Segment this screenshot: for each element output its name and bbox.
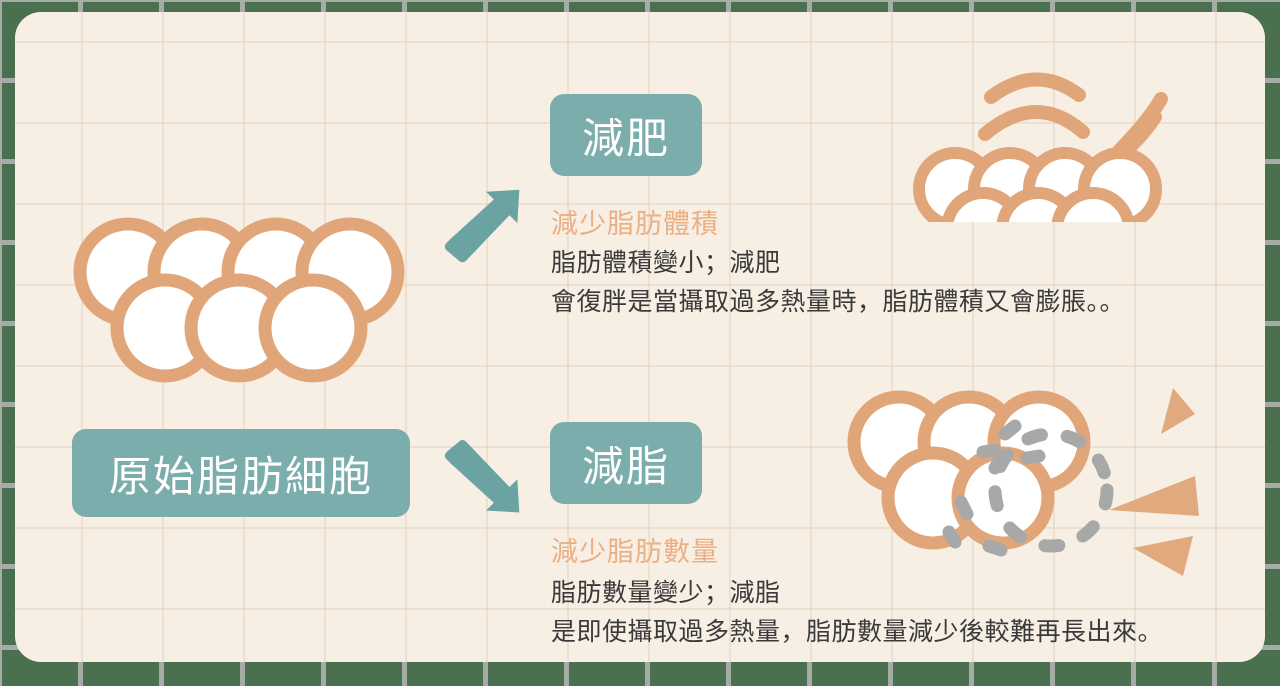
burst-rays-icon [1109,388,1199,576]
subtitle-fat-loss: 減少脂肪數量 [551,530,719,569]
badge-fat-loss: 減脂 [550,422,702,504]
badge-original-fat-cell: 原始脂肪細胞 [72,429,410,517]
body-text-weight-loss: 脂肪體積變小；減肥 會復胖是當攝取過多熱量時，脂肪體積又會膨脹。。 [551,244,1125,322]
infographic-card: 原始脂肪細胞 減肥 減少脂肪體積 脂肪體積變小；減肥 會復胖是當攝取過多熱量時，… [15,12,1265,662]
subtitle-weight-loss: 減少脂肪體積 [551,202,719,241]
badge-weight-loss: 減肥 [550,94,702,176]
shrunken-fat-cells-illustration [913,57,1203,222]
infographic-canvas: 原始脂肪細胞 減肥 減少脂肪體積 脂肪體積變小；減肥 會復胖是當攝取過多熱量時，… [0,0,1280,686]
arrow-up-right-icon [439,184,539,270]
arrow-down-right-icon [439,434,539,520]
original-fat-cell-cluster-illustration [70,210,410,390]
fewer-fat-cells-illustration [843,380,1253,590]
